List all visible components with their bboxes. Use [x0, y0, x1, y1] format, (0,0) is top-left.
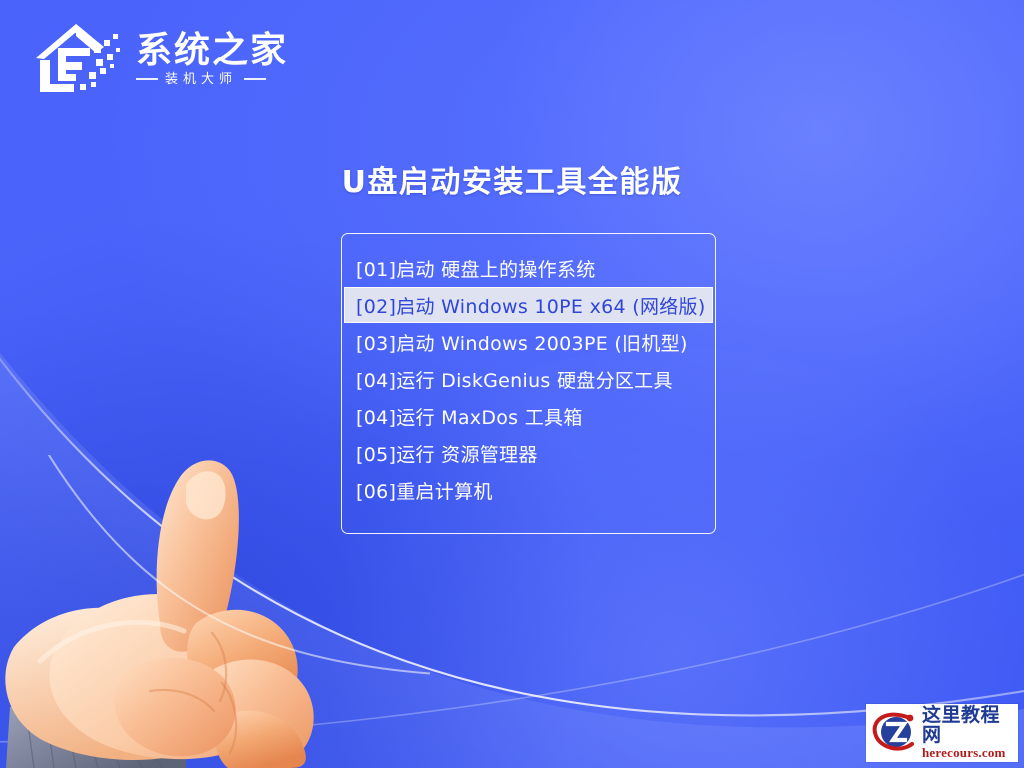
logo-text-block: 系统之家 装机大师 [136, 29, 288, 86]
brand-logo: 系统之家 装机大师 [30, 18, 288, 96]
tagline-dash-right-icon [244, 78, 266, 80]
page-title: U盘启动安装工具全能版 [0, 157, 1024, 201]
boot-menu-item-04b[interactable]: [04]运行 MaxDos 工具箱 [346, 398, 711, 434]
logo-brand-name: 系统之家 [136, 33, 288, 69]
boot-menu-item-02[interactable]: [02]启动 Windows 10PE x64 (网络版) [344, 287, 713, 323]
logo-tagline: 装机大师 [165, 73, 237, 86]
tagline-dash-left-icon [136, 78, 158, 80]
watermark-text-block: 这里教程网 herecours.com [922, 706, 1013, 760]
boot-menu-item-04[interactable]: [04]运行 DiskGenius 硬盘分区工具 [346, 361, 711, 397]
pointing-hand-illustration [0, 455, 430, 768]
boot-menu-item-01[interactable]: [01]启动 硬盘上的操作系统 [346, 250, 711, 286]
watermark-site-url: herecours.com [922, 746, 1013, 760]
boot-menu-item-03[interactable]: [03]启动 Windows 2003PE (旧机型) [346, 324, 711, 360]
watermark-badge: 这里教程网 herecours.com [866, 704, 1018, 762]
watermark-site-name-cn: 这里教程网 [922, 706, 1013, 746]
house-pixel-logo-icon [30, 18, 126, 96]
z-circle-logo-icon [870, 710, 918, 756]
logo-tagline-row: 装机大师 [136, 73, 288, 86]
page-title-text: U盘启动安装工具全能版 [342, 165, 683, 200]
